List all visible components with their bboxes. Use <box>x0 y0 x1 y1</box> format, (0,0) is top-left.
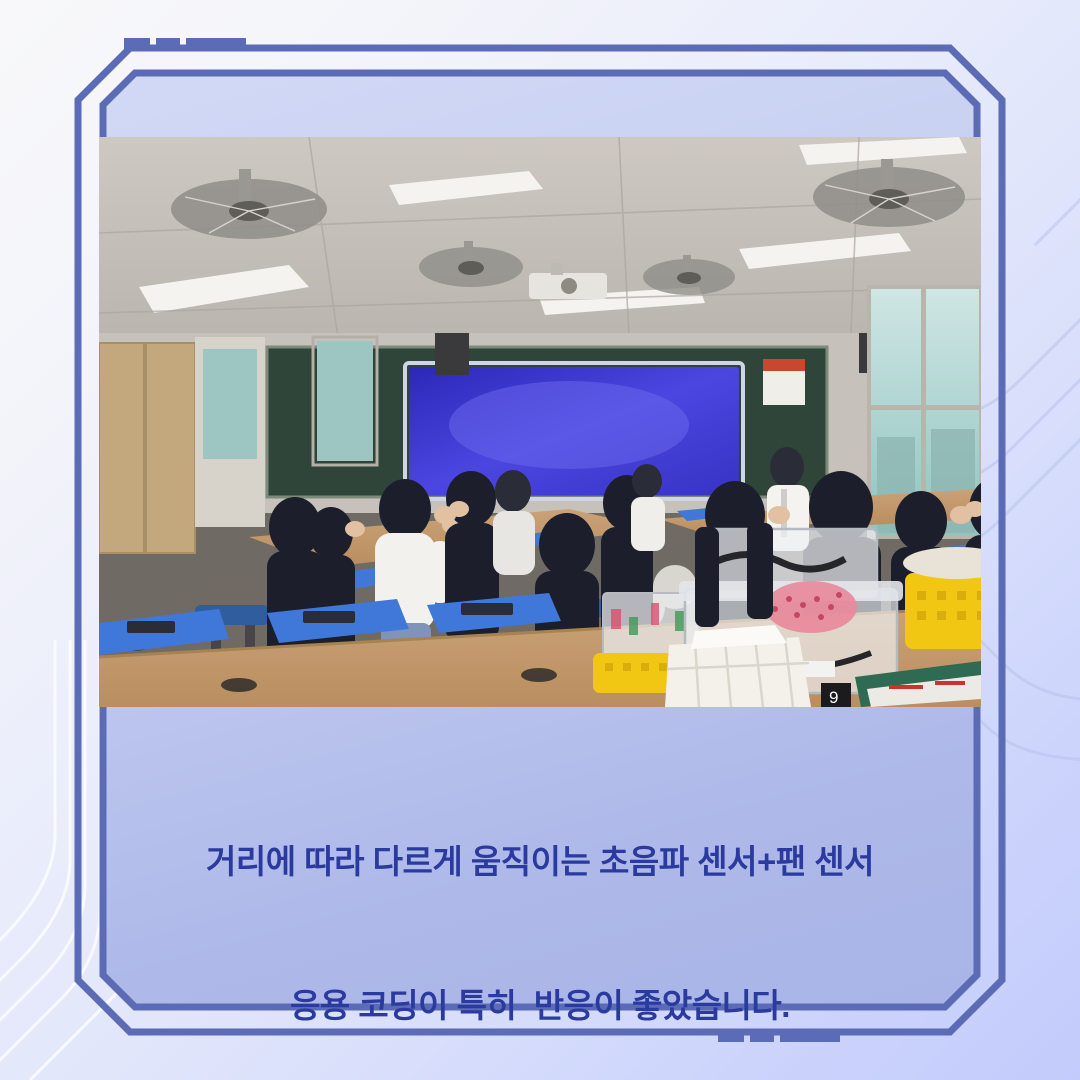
caption-line-2: 응용 코딩이 특히 반응이 좋았습니다. <box>99 982 981 1030</box>
social-card: 9 거리에 따라 다르게 움직이는 초음파 센서+팬 센서 응용 코딩이 특히 … <box>0 0 1080 1080</box>
classroom-photo: 9 <box>99 137 981 707</box>
frame-accent-block-top-2 <box>156 38 180 51</box>
svg-text:9: 9 <box>829 688 838 707</box>
frame-accent-block-top-3 <box>186 38 246 51</box>
frame-accent-block-top-1 <box>124 38 150 51</box>
caption-block: 거리에 따라 다르게 움직이는 초음파 센서+팬 센서 응용 코딩이 특히 반응… <box>99 742 981 1080</box>
classroom-photo-illustration: 9 <box>99 137 981 707</box>
caption-line-1: 거리에 따라 다르게 움직이는 초음파 센서+팬 센서 <box>99 838 981 886</box>
